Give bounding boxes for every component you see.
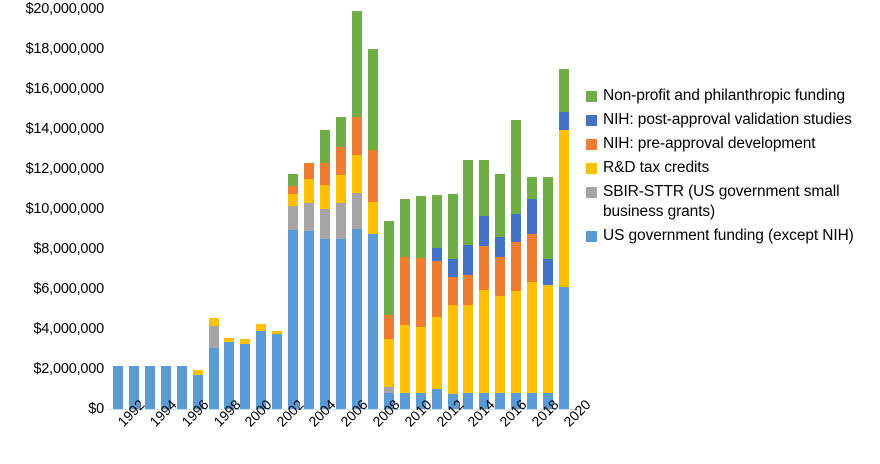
bar-segment[interactable]: [368, 150, 378, 202]
bar-segment[interactable]: [432, 261, 442, 317]
bar-segment[interactable]: [559, 69, 569, 112]
bar-segment[interactable]: [288, 186, 298, 194]
bar-segment[interactable]: [416, 327, 426, 393]
bar-segment[interactable]: [559, 287, 569, 409]
x-axis: 1992199419961998200020022004200620082010…: [110, 409, 580, 464]
bar-segment[interactable]: [320, 185, 330, 209]
bar-2020[interactable]: [559, 69, 569, 409]
legend-item[interactable]: US government funding (except NIH): [586, 226, 878, 246]
bar-segment[interactable]: [448, 259, 458, 277]
bar-segment[interactable]: [336, 117, 346, 147]
legend-item[interactable]: NIH: pre-approval development: [586, 134, 878, 154]
bar-segment[interactable]: [384, 221, 394, 315]
bar-segment[interactable]: [511, 242, 521, 291]
bar-segment[interactable]: [320, 209, 330, 239]
bar-segment[interactable]: [511, 291, 521, 393]
bar-segment[interactable]: [432, 317, 442, 389]
bar-1992[interactable]: [113, 366, 123, 409]
bar-segment[interactable]: [479, 160, 489, 216]
bar-segment[interactable]: [320, 163, 330, 185]
bar-2017[interactable]: [511, 120, 521, 409]
bar-segment[interactable]: [384, 315, 394, 339]
y-axis-tick-label: $10,000,000: [0, 202, 104, 216]
bar-segment[interactable]: [416, 258, 426, 327]
y-axis-tick-label: $2,000,000: [0, 362, 104, 376]
bar-2016[interactable]: [495, 174, 505, 409]
bar-segment[interactable]: [272, 331, 282, 334]
bar-segment[interactable]: [448, 305, 458, 394]
bar-segment[interactable]: [304, 231, 314, 409]
bar-segment[interactable]: [209, 318, 219, 326]
bar-segment[interactable]: [448, 277, 458, 305]
legend-swatch-icon: [586, 91, 597, 102]
bar-segment[interactable]: [400, 199, 410, 257]
bar-segment[interactable]: [368, 234, 378, 409]
bar-segment[interactable]: [368, 49, 378, 150]
bar-segment[interactable]: [352, 11, 362, 117]
bar-2014[interactable]: [463, 160, 473, 409]
bar-segment[interactable]: [193, 370, 203, 375]
bar-segment[interactable]: [177, 366, 187, 409]
legend-item-label: SBIR-STTR (US government small business …: [603, 182, 878, 222]
bar-segment[interactable]: [240, 344, 250, 409]
bar-segment[interactable]: [463, 275, 473, 305]
bar-segment[interactable]: [209, 326, 219, 348]
bar-segment[interactable]: [495, 257, 505, 296]
y-axis-tick-label: $0: [0, 402, 104, 416]
bar-1994[interactable]: [145, 366, 155, 409]
bar-segment[interactable]: [384, 339, 394, 387]
bar-segment[interactable]: [320, 130, 330, 163]
bar-segment[interactable]: [527, 199, 537, 234]
bar-2010[interactable]: [400, 199, 410, 409]
y-axis: $20,000,000$18,000,000$16,000,000$14,000…: [0, 0, 108, 420]
bar-2003[interactable]: [288, 174, 298, 409]
y-axis-tick-label: $12,000,000: [0, 162, 104, 176]
bar-segment[interactable]: [495, 174, 505, 237]
bar-segment[interactable]: [479, 246, 489, 290]
bar-segment[interactable]: [304, 203, 314, 231]
legend-swatch-icon: [586, 115, 597, 126]
y-axis-tick-label: $18,000,000: [0, 42, 104, 56]
legend-item[interactable]: R&D tax credits: [586, 158, 878, 178]
bar-segment[interactable]: [304, 179, 314, 203]
bar-2012[interactable]: [432, 195, 442, 409]
legend-item[interactable]: SBIR-STTR (US government small business …: [586, 182, 878, 222]
bar-segment[interactable]: [527, 234, 537, 282]
legend-swatch-icon: [586, 187, 597, 198]
bar-2009[interactable]: [384, 221, 394, 409]
legend-item-label: R&D tax credits: [603, 158, 709, 178]
bar-segment[interactable]: [288, 206, 298, 230]
legend-swatch-icon: [586, 139, 597, 150]
bar-segment[interactable]: [336, 147, 346, 175]
bar-segment[interactable]: [527, 282, 537, 393]
bar-2002[interactable]: [272, 331, 282, 409]
bar-segment[interactable]: [543, 259, 553, 285]
bar-segment[interactable]: [336, 239, 346, 409]
bar-segment[interactable]: [559, 112, 569, 130]
y-axis-tick-label: $20,000,000: [0, 2, 104, 16]
bar-1996[interactable]: [177, 366, 187, 409]
bar-2000[interactable]: [240, 339, 250, 409]
bar-segment[interactable]: [384, 387, 394, 393]
bar-segment[interactable]: [416, 196, 426, 258]
bar-segment[interactable]: [559, 130, 569, 287]
bar-segment[interactable]: [256, 324, 266, 331]
bar-segment[interactable]: [336, 175, 346, 203]
plot-area: [110, 9, 572, 409]
bar-2018[interactable]: [527, 177, 537, 409]
bar-segment[interactable]: [352, 193, 362, 229]
bar-segment[interactable]: [543, 177, 553, 259]
legend-item[interactable]: Non-profit and philanthropic funding: [586, 86, 878, 106]
bar-segment[interactable]: [209, 348, 219, 409]
bar-2004[interactable]: [304, 163, 314, 409]
y-axis-tick-label: $6,000,000: [0, 282, 104, 296]
bar-2011[interactable]: [416, 196, 426, 409]
bar-segment[interactable]: [543, 285, 553, 393]
bar-segment[interactable]: [479, 290, 489, 393]
chart-legend: Non-profit and philanthropic fundingNIH:…: [586, 86, 878, 250]
bar-segment[interactable]: [352, 117, 362, 155]
bar-2015[interactable]: [479, 160, 489, 409]
bar-segment[interactable]: [352, 155, 362, 193]
stacked-bar-chart: $20,000,000$18,000,000$16,000,000$14,000…: [0, 0, 880, 464]
bar-segment[interactable]: [224, 338, 234, 342]
bar-2006[interactable]: [336, 117, 346, 409]
bar-segment[interactable]: [527, 177, 537, 199]
legend-swatch-icon: [586, 231, 597, 242]
bar-segment[interactable]: [495, 296, 505, 393]
bar-segment[interactable]: [320, 239, 330, 409]
bar-segment[interactable]: [288, 194, 298, 206]
bar-2007[interactable]: [352, 11, 362, 409]
legend-item-label: NIH: pre-approval development: [603, 134, 816, 154]
bar-segment[interactable]: [352, 229, 362, 409]
legend-item-label: US government funding (except NIH): [603, 226, 854, 246]
bar-segment[interactable]: [304, 163, 314, 179]
bar-segment[interactable]: [336, 203, 346, 239]
bar-segment[interactable]: [368, 202, 378, 234]
bar-segment[interactable]: [448, 194, 458, 259]
y-axis-tick-label: $14,000,000: [0, 122, 104, 136]
bar-segment[interactable]: [463, 305, 473, 393]
bar-segment[interactable]: [511, 120, 521, 214]
bar-segment[interactable]: [240, 339, 250, 344]
bar-segment[interactable]: [511, 214, 521, 242]
bar-segment[interactable]: [272, 334, 282, 409]
bar-segment[interactable]: [463, 160, 473, 245]
bar-segment[interactable]: [113, 366, 123, 409]
bar-segment[interactable]: [145, 366, 155, 409]
bar-2013[interactable]: [448, 194, 458, 409]
bar-segment[interactable]: [432, 248, 442, 261]
bar-segment[interactable]: [288, 174, 298, 186]
legend-swatch-icon: [586, 163, 597, 174]
legend-item-label: Non-profit and philanthropic funding: [603, 86, 845, 106]
bar-segment[interactable]: [495, 237, 505, 257]
y-axis-tick-label: $8,000,000: [0, 242, 104, 256]
bar-segment[interactable]: [400, 257, 410, 325]
bar-2005[interactable]: [320, 130, 330, 409]
bar-segment[interactable]: [432, 195, 442, 248]
bar-segment[interactable]: [288, 230, 298, 409]
y-axis-tick-label: $16,000,000: [0, 82, 104, 96]
y-axis-tick-label: $4,000,000: [0, 322, 104, 336]
bar-1998[interactable]: [209, 318, 219, 409]
bar-segment[interactable]: [463, 245, 473, 275]
bar-2019[interactable]: [543, 177, 553, 409]
legend-item-label: NIH: post-approval validation studies: [603, 110, 852, 130]
bar-segment[interactable]: [400, 325, 410, 393]
bar-2008[interactable]: [368, 49, 378, 409]
bar-segment[interactable]: [479, 216, 489, 246]
legend-item[interactable]: NIH: post-approval validation studies: [586, 110, 878, 130]
